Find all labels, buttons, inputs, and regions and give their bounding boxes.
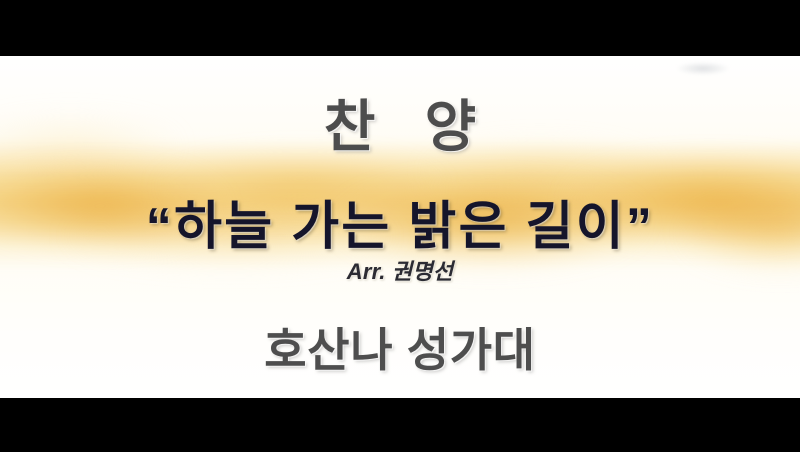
slide-text-layer: 찬 양 “하늘 가는 밝은 길이” Arr. 권명선 호산나 성가대 xyxy=(0,56,800,398)
letterbox-bar-bottom xyxy=(0,398,800,452)
choir-name: 호산나 성가대 xyxy=(0,314,800,380)
presentation-slide: 찬 양 “하늘 가는 밝은 길이” Arr. 권명선 호산나 성가대 xyxy=(0,56,800,398)
slide-heading: 찬 양 xyxy=(0,82,800,163)
video-frame: 찬 양 “하늘 가는 밝은 길이” Arr. 권명선 호산나 성가대 xyxy=(0,0,800,452)
song-title: “하늘 가는 밝은 길이” xyxy=(0,184,800,259)
letterbox-bar-top xyxy=(0,0,800,56)
arranger-credit: Arr. 권명선 xyxy=(0,254,800,286)
